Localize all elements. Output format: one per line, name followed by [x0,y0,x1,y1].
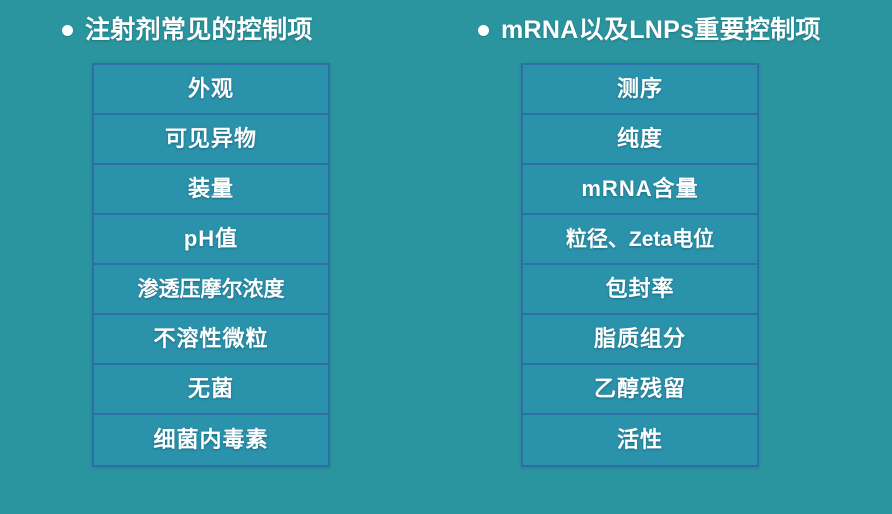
list-item-label: 外观 [188,78,234,100]
list-item-label: pH值 [184,228,238,250]
heading-right: mRNA以及LNPs重要控制项 [478,18,821,43]
bullet-dot-icon [62,25,73,36]
list-item[interactable]: 活性 [523,415,757,465]
column-mrna-lnp-controls: mRNA以及LNPs重要控制项 测序 纯度 mRNA含量 粒径、Zeta电位 包… [446,0,892,514]
list-item[interactable]: 细菌内毒素 [94,415,328,465]
list-item[interactable]: 装量 [94,165,328,215]
heading-left: 注射剂常见的控制项 [62,18,313,43]
list-box-right: 测序 纯度 mRNA含量 粒径、Zeta电位 包封率 脂质组分 [521,63,759,467]
list-item[interactable]: 粒径、Zeta电位 [523,215,757,265]
list-item-label: 活性 [617,429,663,451]
list-item[interactable]: 可见异物 [94,115,328,165]
list-item-label: 细菌内毒素 [153,429,268,451]
list-item-label: 包封率 [605,278,674,300]
bullet-dot-icon [478,25,489,36]
list-item[interactable]: mRNA含量 [523,165,757,215]
list-item[interactable]: 无菌 [94,365,328,415]
list-item[interactable]: 外观 [94,65,328,115]
list-item[interactable]: 乙醇残留 [523,365,757,415]
list-item[interactable]: 不溶性微粒 [94,315,328,365]
list-item-label: 渗透压摩尔浓度 [138,279,285,300]
slide-canvas: 注射剂常见的控制项 外观 可见异物 装量 pH值 渗透压摩尔浓度 [0,0,892,514]
list-item-label: mRNA含量 [581,178,698,200]
list-item-label: 脂质组分 [594,328,686,350]
list-item[interactable]: 渗透压摩尔浓度 [94,265,328,315]
column-injection-controls: 注射剂常见的控制项 外观 可见异物 装量 pH值 渗透压摩尔浓度 [0,0,446,514]
list-item[interactable]: 包封率 [523,265,757,315]
list-item-label: 可见异物 [165,128,257,150]
list-item[interactable]: pH值 [94,215,328,265]
list-item-label: 不溶性微粒 [153,328,268,350]
column-title-right: mRNA以及LNPs重要控制项 [501,18,821,43]
list-item-label: 粒径、Zeta电位 [566,229,714,250]
two-column-layout: 注射剂常见的控制项 外观 可见异物 装量 pH值 渗透压摩尔浓度 [0,0,892,514]
list-item[interactable]: 脂质组分 [523,315,757,365]
list-box-left: 外观 可见异物 装量 pH值 渗透压摩尔浓度 不溶性微粒 无菌 [92,63,330,467]
list-item[interactable]: 纯度 [523,115,757,165]
column-title-left: 注射剂常见的控制项 [85,18,313,43]
list-item[interactable]: 测序 [523,65,757,115]
list-item-label: 无菌 [188,378,234,400]
list-item-label: 测序 [617,78,663,100]
list-item-label: 乙醇残留 [594,378,686,400]
list-item-label: 装量 [188,178,234,200]
list-item-label: 纯度 [617,128,663,150]
